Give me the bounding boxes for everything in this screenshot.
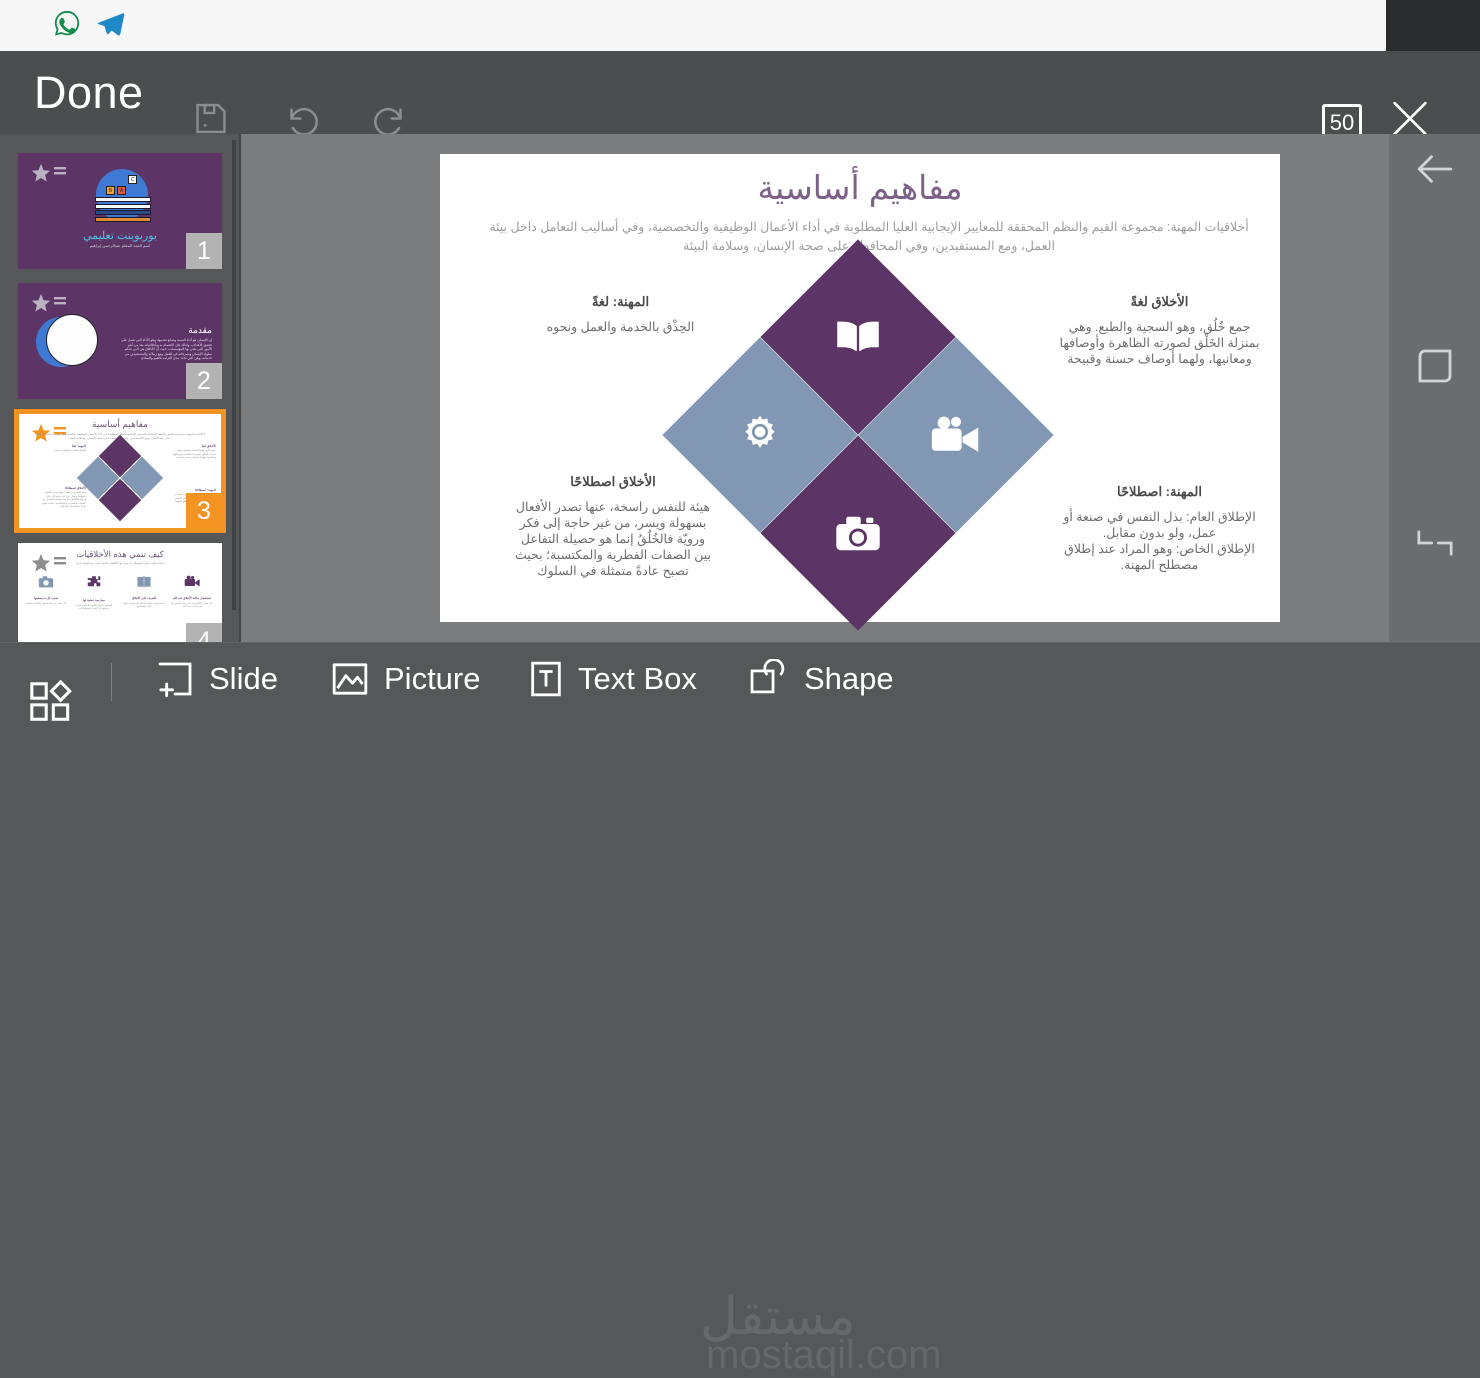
watermark-arabic: مستقل bbox=[700, 1287, 856, 1347]
thumb4-column-3: التعرف على الأخلاق قراءة وتعلم مفاهيم ال… bbox=[122, 575, 166, 608]
thumb4-column-2: ممارسة عملية لها التطبيق العملي للقيمة ا… bbox=[72, 575, 116, 610]
block-body: الحِذْق بالخدمة والعمل ونحوه bbox=[528, 319, 713, 335]
right-tool-rail bbox=[1389, 134, 1480, 642]
thumb4-title: كيف تنمي هذه الأخلاقيات bbox=[18, 549, 222, 560]
thumb3-title: مفاهيم أساسية bbox=[18, 419, 222, 430]
diamond-diagram[interactable] bbox=[719, 296, 997, 576]
camera-icon bbox=[834, 514, 882, 552]
thumb4-column-4: استحضار مكانة الأخلاق عند الله تذكر فضل … bbox=[170, 575, 214, 608]
open-book-icon bbox=[833, 317, 883, 357]
insert-slide-button[interactable]: Slide bbox=[155, 659, 278, 699]
thumb2-title: مقدمة bbox=[188, 325, 212, 336]
thumb4-subtitle: عدة أساليب يمكن للموظف أن ينمي بها أخلاق… bbox=[46, 562, 194, 566]
thumbnail-number: 1 bbox=[186, 233, 222, 269]
thumbnail-rail-scrollbar[interactable] bbox=[232, 140, 236, 610]
done-button[interactable]: Done bbox=[34, 65, 144, 121]
whatsapp-icon[interactable] bbox=[52, 9, 82, 44]
thumbnail-slide-3[interactable]: مفاهيم أساسية أخلاقيات المهنة: مجموعة ال… bbox=[18, 413, 222, 529]
slide-layout-star-icon bbox=[30, 163, 70, 185]
browser-top-strip bbox=[0, 0, 1386, 51]
toolbar-separator bbox=[111, 663, 112, 701]
thumb1-books-stack bbox=[95, 197, 151, 223]
block-heading: الأخلاق لغةً bbox=[1057, 294, 1262, 310]
block-body: الإطلاق العام: بذل النفس في صنعة أو عمل،… bbox=[1057, 509, 1262, 573]
thumbnail-slide-4[interactable]: كيف تنمي هذه الأخلاقيات عدة أساليب يمكن … bbox=[18, 543, 222, 642]
rounded-rect-shape-icon[interactable] bbox=[1415, 346, 1455, 391]
insert-picture-label: Picture bbox=[384, 661, 480, 697]
insert-textbox-button[interactable]: Text Box bbox=[528, 659, 697, 699]
insert-shape-button[interactable]: Shape bbox=[748, 659, 894, 699]
picture-icon bbox=[330, 659, 370, 699]
insert-slide-label: Slide bbox=[209, 661, 278, 697]
text-block-mihna-istilahan[interactable]: المهنة: اصطلاحًا الإطلاق العام: بذل النف… bbox=[1057, 484, 1262, 573]
thumb3-block-akhlaq-istilahan: الأخلاق اصطلاحًا هيئة للنفس راسخة، عنها … bbox=[40, 487, 86, 508]
thumb3-block-akhlaq-lugha: الأخلاق لغةً جمع خُلُق، وهو السجية والطب… bbox=[172, 445, 216, 460]
shape-icon bbox=[748, 659, 790, 699]
share-icon-group bbox=[52, 9, 126, 44]
text-block-mihna-lugha[interactable]: المهنة: لغةً الحِذْق بالخدمة والعمل ونحو… bbox=[528, 294, 713, 335]
slide-title[interactable]: مفاهيم أساسية bbox=[440, 168, 1280, 207]
thumb2-body: إن الإنسان هو أداة التنمية وصانع تقدمها،… bbox=[120, 338, 212, 361]
thumb1-abc-blocks: B A C bbox=[106, 175, 137, 195]
insert-textbox-label: Text Box bbox=[578, 661, 697, 697]
block-body: جمع خُلُق، وهو السجية والطبع. وهي بمنزلة… bbox=[1057, 319, 1262, 367]
back-arrow-icon[interactable] bbox=[1412, 148, 1458, 195]
telegram-icon[interactable] bbox=[96, 10, 126, 43]
current-slide[interactable]: مفاهيم أساسية أخلاقيات المهنة: مجموعة ال… bbox=[440, 154, 1280, 622]
slide-canvas-area[interactable]: مفاهيم أساسية أخلاقيات المهنة: مجموعة ال… bbox=[241, 134, 1389, 642]
slide-thumbnail-rail[interactable]: B A C بوربوينت تعليمي اسم المعد المعلم ع… bbox=[0, 134, 240, 642]
block-heading: المهنة: لغةً bbox=[528, 294, 713, 310]
thumbnail-number: 3 bbox=[186, 493, 222, 529]
top-strip-dark-corner bbox=[1386, 0, 1480, 51]
video-camera-icon bbox=[930, 415, 982, 455]
text-box-icon bbox=[528, 659, 564, 699]
thumbnail-number: 2 bbox=[186, 363, 222, 399]
block-heading: الأخلاق اصطلاحًا bbox=[513, 474, 713, 490]
block-body: هيئة للنفس راسخة، عنها تصدر الأفعال بسهو… bbox=[513, 499, 713, 579]
editor-toolbar: Done 50 bbox=[0, 51, 1480, 134]
camera-icon bbox=[38, 575, 54, 588]
watermark-latin: mostaqil.com bbox=[706, 1333, 942, 1378]
text-block-akhlaq-istilahan[interactable]: الأخلاق اصطلاحًا هيئة للنفس راسخة، عنها … bbox=[513, 474, 713, 579]
thumbnail-number: 4 bbox=[186, 623, 222, 642]
insert-shape-label: Shape bbox=[804, 661, 894, 697]
thumb3-diamond-graphic bbox=[89, 447, 151, 509]
thumbnail-slide-1[interactable]: B A C بوربوينت تعليمي اسم المعد المعلم ع… bbox=[18, 153, 222, 269]
arrange-layout-icon[interactable] bbox=[1414, 526, 1456, 565]
thumb4-column-1: تجنب كل ما يضعفها كأن تبتعد عن رفقة السو… bbox=[24, 575, 68, 605]
block-heading: المهنة: اصطلاحًا bbox=[1057, 484, 1262, 500]
bottom-insert-toolbar: Slide Picture Text Box Shape مستقل mosta… bbox=[0, 642, 1480, 720]
gear-icon bbox=[738, 413, 782, 457]
grid-layout-icon[interactable] bbox=[28, 679, 74, 730]
thumb3-block-mihna-lugha: المهنة: لغةً الحِذْق بالخدمة والعمل ونحو… bbox=[42, 445, 86, 453]
add-slide-icon bbox=[155, 659, 195, 699]
video-camera-icon bbox=[184, 575, 201, 588]
insert-picture-button[interactable]: Picture bbox=[330, 659, 480, 699]
thumbnail-slide-2[interactable]: مقدمة إن الإنسان هو أداة التنمية وصانع ت… bbox=[18, 283, 222, 399]
watermark: مستقل mostaqil.com bbox=[660, 1291, 1020, 1363]
thumb2-white-circle bbox=[46, 314, 98, 366]
puzzle-icon bbox=[86, 575, 102, 590]
text-block-akhlaq-lugha[interactable]: الأخلاق لغةً جمع خُلُق، وهو السجية والطب… bbox=[1057, 294, 1262, 367]
book-icon bbox=[136, 575, 152, 588]
slide-layout-star-icon bbox=[30, 293, 70, 315]
